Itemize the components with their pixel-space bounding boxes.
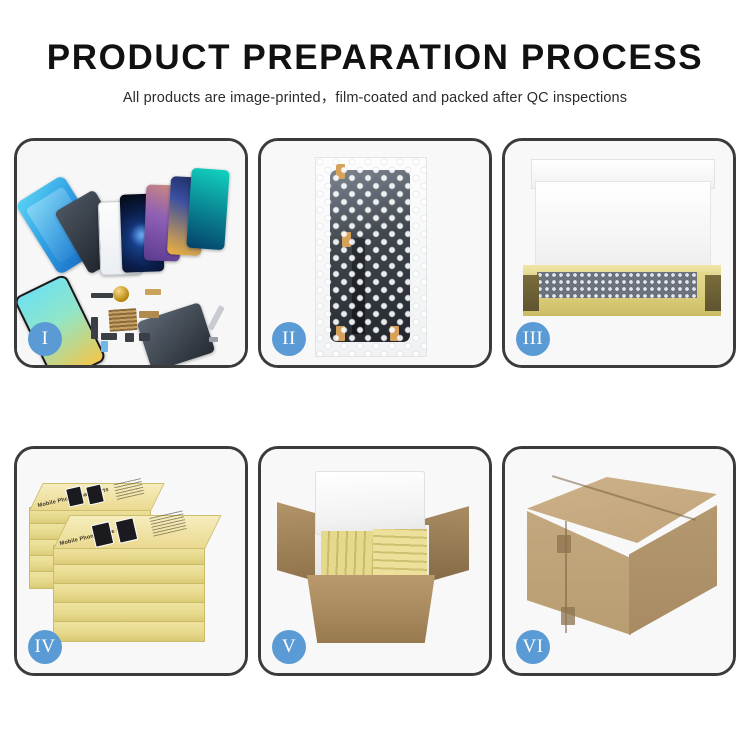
process-step-panel-6[interactable]: VI bbox=[502, 446, 736, 676]
flex-cable-icon bbox=[145, 289, 161, 295]
logic-board-icon bbox=[108, 308, 137, 332]
box-right-flap-icon bbox=[705, 275, 721, 311]
stack-box-front-2 bbox=[53, 602, 205, 623]
screw-icon bbox=[209, 337, 218, 342]
process-step-panel-2[interactable]: II bbox=[258, 138, 492, 368]
step-badge-2: II bbox=[272, 322, 306, 356]
connector-part-icon bbox=[91, 293, 113, 298]
charging-port-flex-icon bbox=[139, 311, 159, 318]
side-flex-icon bbox=[91, 317, 98, 339]
speaker-part-icon bbox=[101, 333, 117, 340]
bubble-texture-icon bbox=[316, 158, 426, 356]
carton-tape-lower-icon bbox=[561, 607, 575, 625]
stack-box-front-4 bbox=[53, 564, 205, 585]
carton-tape-upper-icon bbox=[557, 535, 571, 553]
camera-module-icon bbox=[125, 333, 134, 342]
stack-box-front-top-face bbox=[53, 515, 222, 549]
sim-tray-icon bbox=[101, 341, 108, 352]
process-step-panel-5[interactable]: V bbox=[258, 446, 492, 676]
page-title: PRODUCT PREPARATION PROCESS bbox=[0, 40, 750, 77]
stack-box-front-3 bbox=[53, 583, 205, 604]
packed-yellow-boxes-stack-icon bbox=[373, 529, 427, 575]
step-badge-3: III bbox=[516, 322, 550, 356]
vibration-motor-icon bbox=[113, 286, 129, 302]
carton-front-panel-icon bbox=[307, 575, 435, 643]
stack-box-front-1 bbox=[53, 621, 205, 642]
process-step-panel-1[interactable]: I bbox=[14, 138, 248, 368]
page-subtitle: All products are image-printed，film-coat… bbox=[0, 86, 750, 107]
process-step-panel-4[interactable]: Mobile Phone Spare Parts Mobile Phone Sp… bbox=[14, 446, 248, 676]
step-badge-1: I bbox=[28, 322, 62, 356]
foam-lid-icon bbox=[315, 471, 425, 535]
box-left-flap-icon bbox=[523, 275, 539, 311]
process-step-grid: I II III bbox=[0, 138, 750, 676]
step-badge-6: VI bbox=[516, 630, 550, 664]
button-part-icon bbox=[139, 333, 150, 341]
bubble-padding-layer-icon bbox=[537, 272, 697, 298]
bubble-bag-icon bbox=[315, 157, 427, 357]
step-badge-4: IV bbox=[28, 630, 62, 664]
page-header: PRODUCT PREPARATION PROCESS All products… bbox=[0, 0, 750, 107]
process-step-panel-3[interactable]: III bbox=[502, 138, 736, 368]
step-badge-5: V bbox=[272, 630, 306, 664]
teal-gradient-phone-icon bbox=[186, 168, 229, 250]
